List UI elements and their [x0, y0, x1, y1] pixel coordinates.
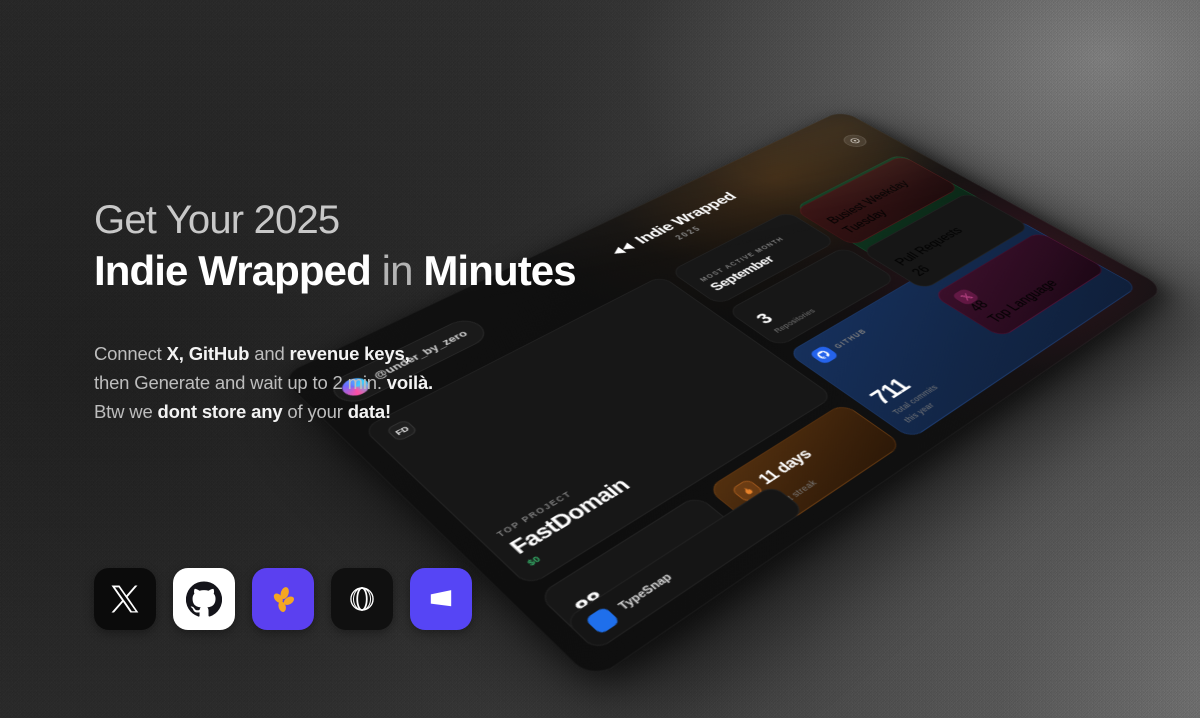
integration-github[interactable] [173, 568, 235, 630]
sub3c: of your [282, 401, 347, 422]
sub3b: dont store any [158, 401, 283, 422]
wrapped-logo-icon [608, 241, 637, 257]
headline-strong-b: Minutes [423, 247, 575, 294]
x-icon [110, 584, 140, 614]
hero-copy: Get Your 2025 Indie Wrapped in Minutes C… [94, 196, 576, 426]
stars-value: 88 [569, 517, 720, 619]
sub3d: data! [348, 401, 391, 422]
hero-subtext: Connect X, GitHub and revenue keys, then… [94, 339, 576, 426]
sub2a: then Generate and wait up to 2 min. [94, 372, 387, 393]
sub1c: and [249, 343, 289, 364]
headline-line-1: Get Your 2025 [94, 196, 576, 244]
sub1d: revenue keys, [290, 343, 410, 364]
streak-value: 11 days [755, 447, 816, 488]
lemonsqueezy-icon [424, 582, 458, 616]
polar-icon [266, 582, 300, 616]
headline-strong-a: Indie Wrapped [94, 247, 382, 294]
flame-icon [730, 479, 765, 504]
tile-stars[interactable]: 88 Stars earned [537, 495, 756, 651]
subtext-line-2: then Generate and wait up to 2 min. voil… [94, 368, 576, 397]
hero-page: @under_by_zero Indie Wrapped [0, 0, 1200, 718]
stars-caption: Stars earned [591, 536, 732, 631]
integration-opera[interactable] [331, 568, 393, 630]
header-actions [839, 132, 871, 149]
opera-icon [345, 582, 379, 616]
sub1a: Connect [94, 343, 167, 364]
integration-polar[interactable] [252, 568, 314, 630]
commits-label: GitHub [832, 327, 869, 349]
integrations-row [94, 568, 472, 630]
tile-streak[interactable]: 11 days Longest streak [706, 403, 903, 537]
sub1b: X, GitHub [167, 343, 250, 364]
subtext-line-1: Connect X, GitHub and revenue keys, [94, 339, 576, 368]
sub3a: Btw we [94, 401, 158, 422]
integration-x[interactable] [94, 568, 156, 630]
github-icon [808, 345, 839, 365]
share-icon[interactable] [839, 132, 871, 149]
github-icon [186, 581, 222, 617]
subtext-line-3: Btw we dont store any of your data! [94, 397, 576, 426]
headline-dim: in [382, 247, 424, 294]
integration-lemonsqueezy[interactable] [410, 568, 472, 630]
streak-caption: Longest streak [759, 438, 880, 519]
headline-line-2: Indie Wrapped in Minutes [94, 245, 576, 297]
sub2b: voilà. [387, 372, 433, 393]
